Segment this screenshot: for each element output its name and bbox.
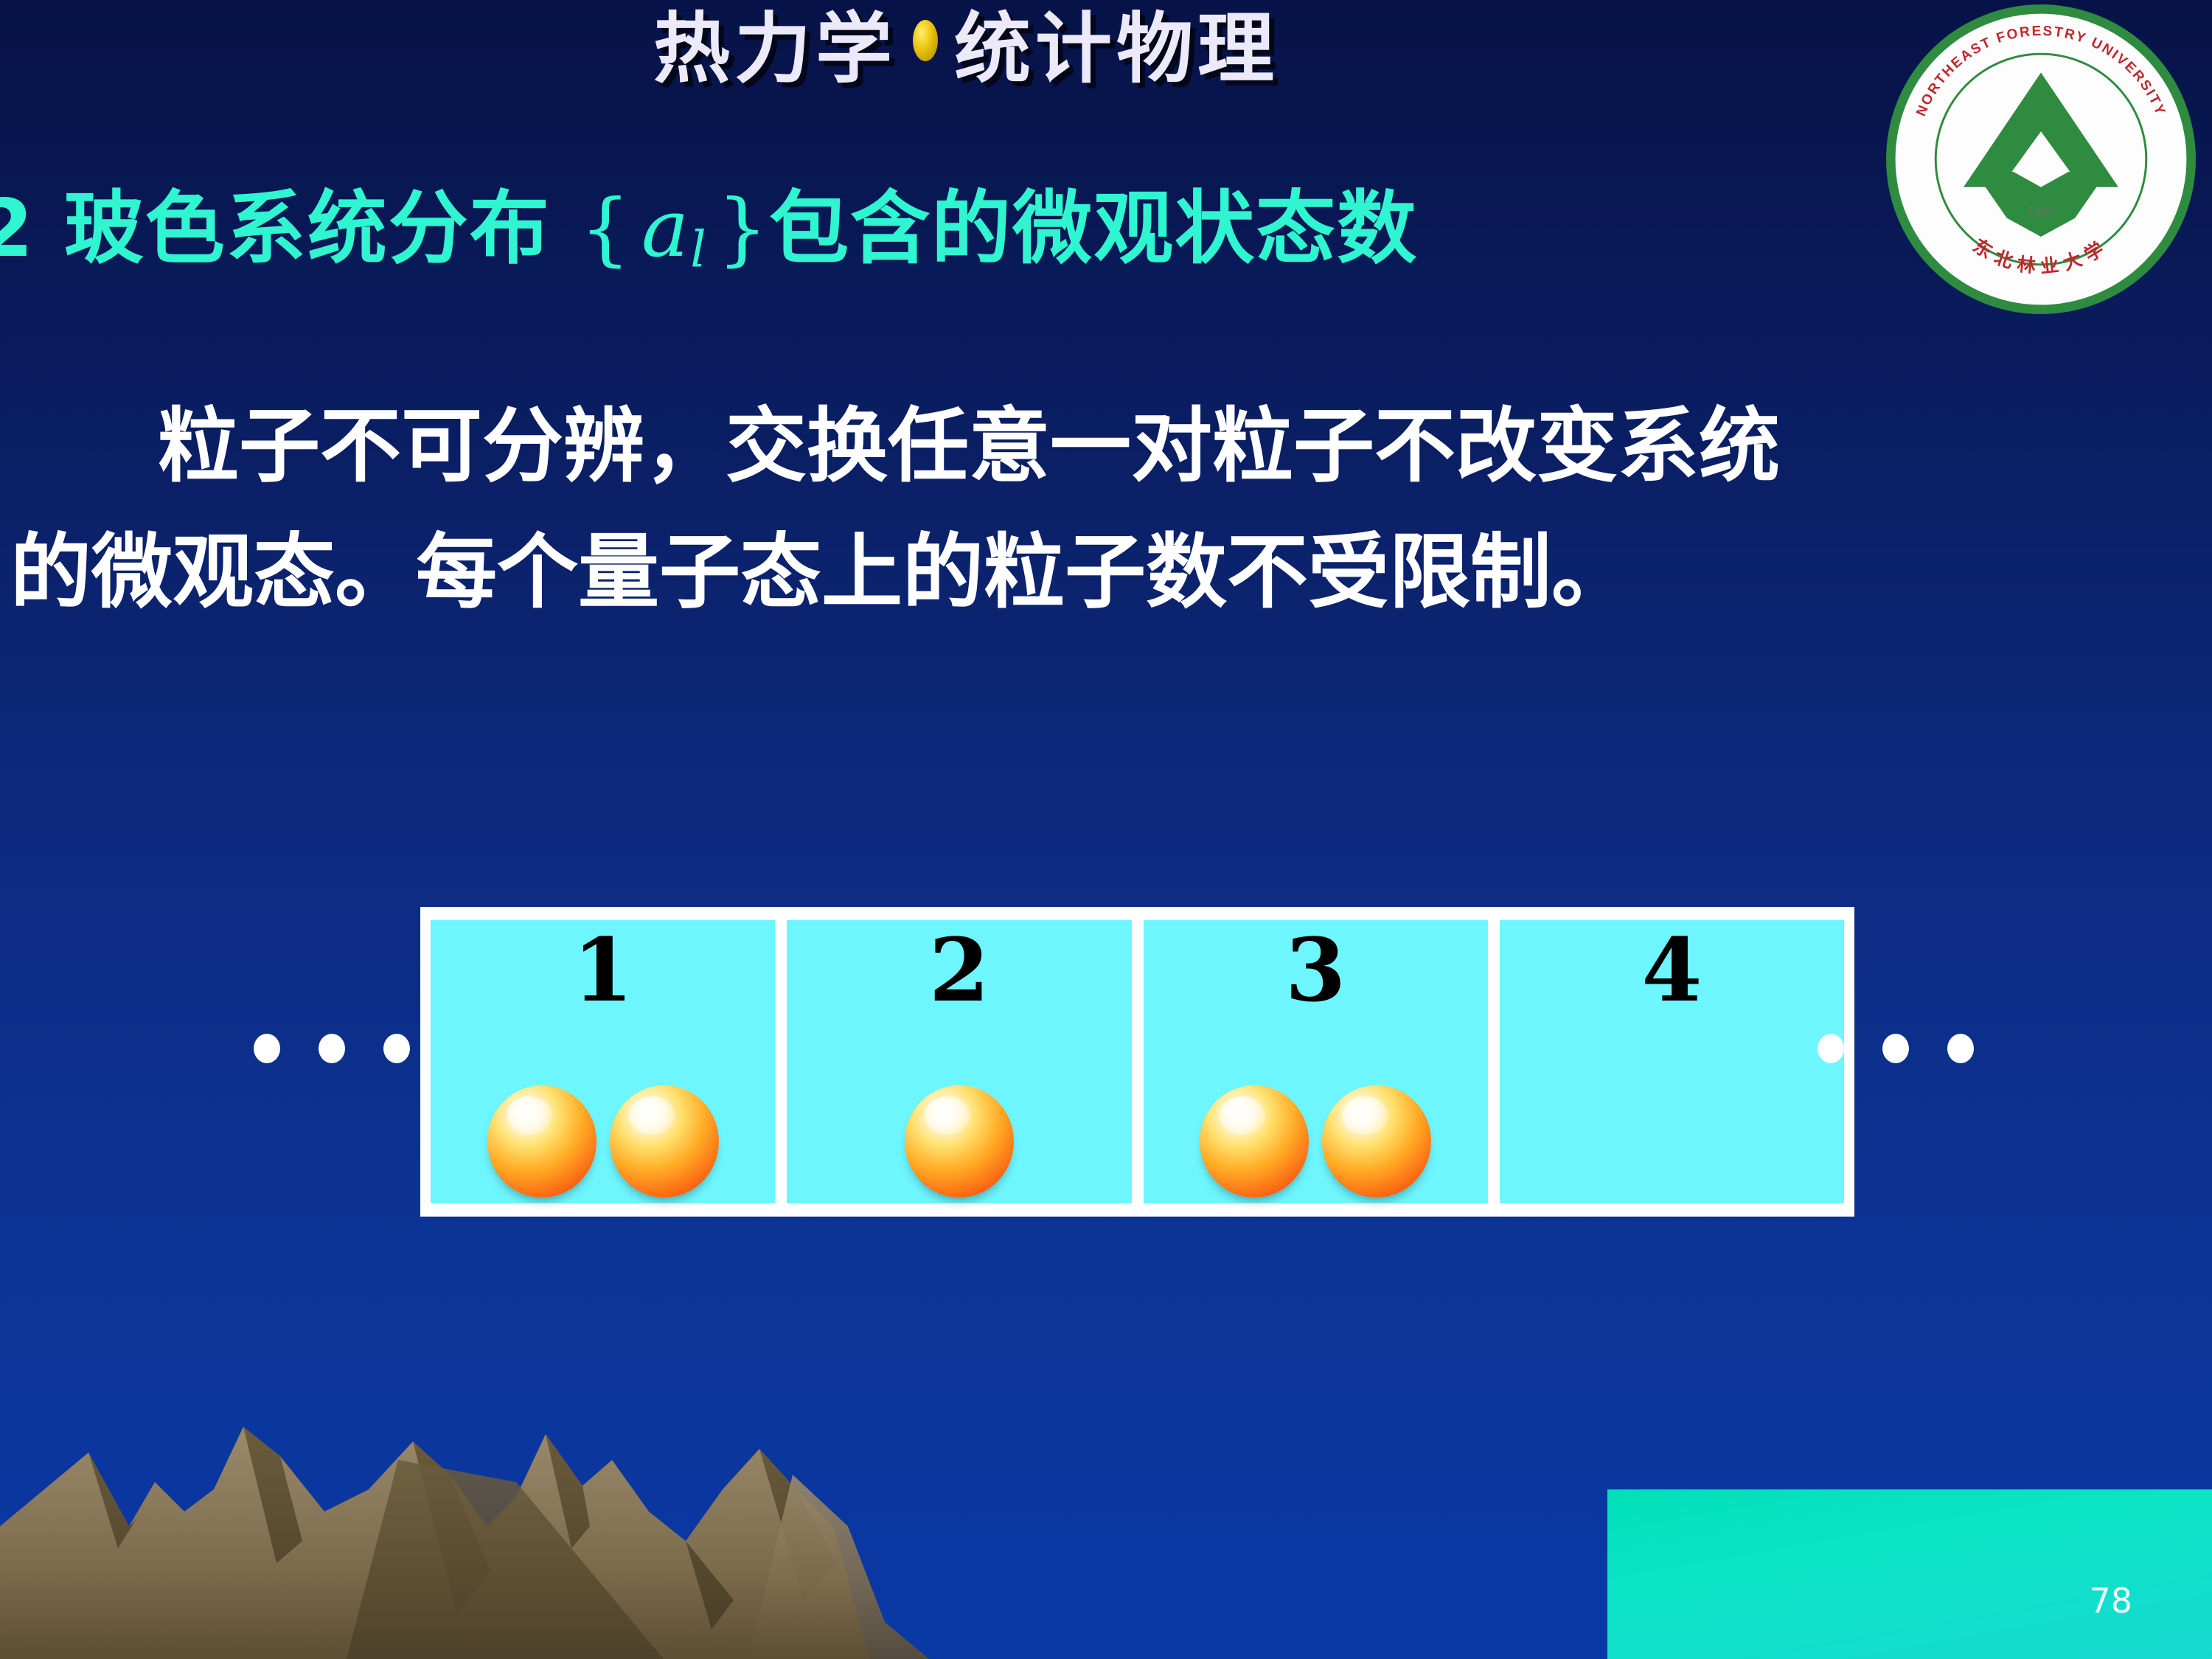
math-symbol-a: a [641, 183, 690, 275]
heading-part2: 包含的微观状态数 [769, 183, 1418, 275]
title-right-text: 统计物理 [954, 6, 1279, 91]
cell-number-label: 3 [1144, 925, 1488, 1016]
ellipsis-dot [319, 1034, 345, 1063]
particle-group [1500, 1057, 1844, 1197]
particle-ball [1322, 1085, 1431, 1197]
trailing-ellipsis [1818, 1034, 1974, 1063]
ellipsis-dot [1882, 1034, 1909, 1063]
state-cell-4[interactable]: 4 [1500, 920, 1844, 1203]
state-cell-1[interactable]: 1 [431, 920, 775, 1203]
particle-ball [487, 1085, 597, 1197]
state-cell-3[interactable]: 3 [1144, 920, 1488, 1203]
ellipsis-dot [383, 1034, 410, 1063]
heading-prefix: 2 [0, 183, 35, 275]
state-cell-2[interactable]: 2 [787, 920, 1131, 1203]
cell-number-label: 4 [1500, 925, 1844, 1016]
slide-canvas: NORTHEAST FORESTRY UNIVERSITY 东北林业大学 195… [0, 0, 2212, 1659]
ellipsis-dot [254, 1034, 280, 1063]
particle-group [787, 1057, 1131, 1197]
ellipsis-dot [1947, 1034, 1974, 1063]
math-subscript-l: l [690, 221, 707, 279]
body-paragraph: 粒子不可分辨，交换任意一对粒子不改变系统 的微观态。每个量子态上的粒子数不受限制… [10, 383, 2193, 635]
particle-group [431, 1057, 775, 1197]
section-heading: 2 玻色系统分布 { al }包含的微观状态数 [0, 186, 1917, 277]
mountain-silhouette [0, 1305, 2212, 1659]
leading-ellipsis [254, 1034, 410, 1063]
bullet-dot-icon [913, 20, 938, 61]
cell-number-label: 1 [431, 925, 775, 1016]
particle-group [1144, 1057, 1488, 1197]
title-left-text: 热力学 [653, 6, 897, 91]
particle-ball [905, 1085, 1014, 1197]
cell-number-label: 2 [787, 925, 1131, 1016]
body-line-2-text: 的微观态。每个量子态上的粒子数不受限制。 [10, 509, 2193, 636]
body-line-1-text: 粒子不可分辨，交换任意一对粒子不改变系统 [158, 399, 1780, 493]
particle-ball [1200, 1085, 1309, 1197]
heading-part1: 玻色系统分布 [64, 183, 551, 275]
math-brace-open: { [580, 183, 632, 275]
svg-text:1952: 1952 [2027, 204, 2054, 218]
particle-ball [610, 1085, 719, 1197]
body-line-1: 粒子不可分辨，交换任意一对粒子不改变系统 [10, 383, 2193, 509]
ellipsis-dot [1818, 1034, 1844, 1063]
university-logo: NORTHEAST FORESTRY UNIVERSITY 东北林业大学 195… [1886, 4, 2196, 314]
math-brace-close: } [717, 183, 769, 275]
cell-row: 1 2 3 4 [420, 907, 1854, 1217]
page-number: 78 [2089, 1581, 2132, 1621]
slide-title: 热力学统计物理 [0, 6, 1932, 91]
quantum-state-diagram: 1 2 3 4 [243, 907, 2042, 1217]
heading-math-expression: { al } [580, 183, 769, 275]
